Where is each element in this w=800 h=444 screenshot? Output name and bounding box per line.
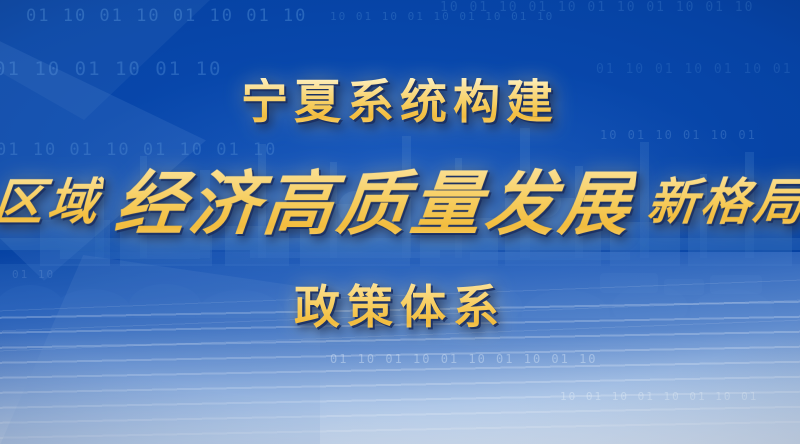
title-line-3: 政策体系 (294, 271, 506, 337)
title-line-2-pattern: 新格局 (644, 162, 800, 234)
poster-banner: 01 10 01 10 01 10 01 10 10 01 10 01 10 0… (0, 0, 800, 444)
title-line-2-economy: 经济高质量发展 (110, 148, 639, 249)
title-block: 宁夏系统构建 区域 经济高质量发展 新格局 政策体系 (0, 0, 800, 444)
title-line-2-region: 区域 (0, 162, 105, 234)
title-line-1: 宁夏系统构建 (241, 78, 559, 128)
title-line-2: 区域 经济高质量发展 新格局 (0, 148, 800, 249)
